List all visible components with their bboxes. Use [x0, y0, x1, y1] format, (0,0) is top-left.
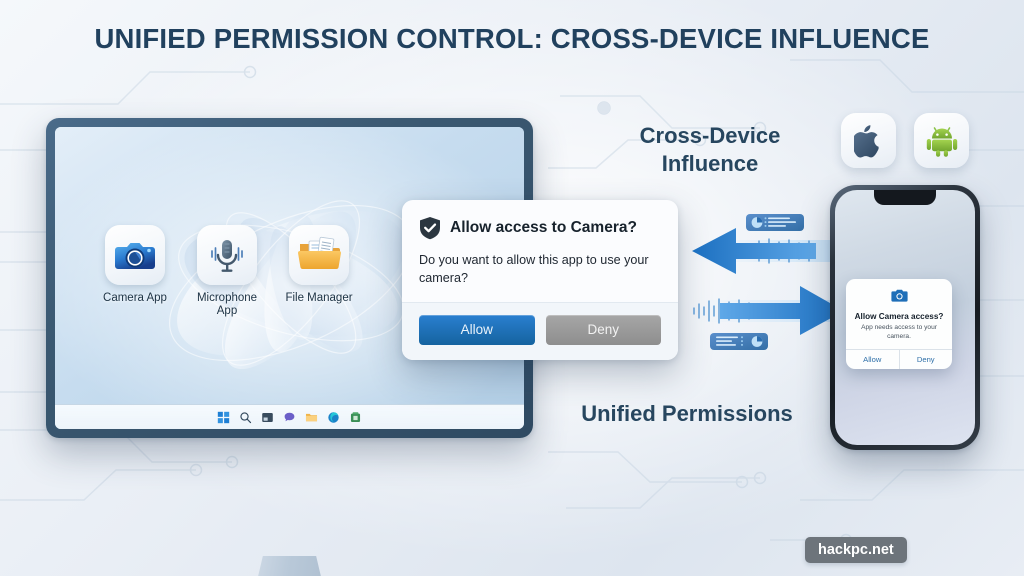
windows-start-icon[interactable]	[217, 411, 230, 424]
shield-check-icon	[419, 216, 441, 240]
phone-permission-dialog[interactable]: Allow Camera access? App needs access to…	[846, 279, 952, 369]
edge-browser-icon[interactable]	[327, 411, 340, 424]
desktop-icon-label: Camera App	[101, 292, 169, 305]
dialog-footer: Allow Deny	[402, 302, 678, 360]
desktop-icon-camera-app[interactable]: Camera App	[101, 225, 169, 305]
os-badge-group	[841, 113, 969, 168]
monitor-stand	[253, 556, 327, 576]
camera-app-tile[interactable]	[105, 225, 165, 285]
camera-icon	[113, 233, 157, 277]
android-badge[interactable]	[914, 113, 969, 168]
label-unified-permissions: Unified Permissions	[562, 400, 812, 428]
phone-deny-button[interactable]: Deny	[899, 350, 953, 369]
desktop-icon-microphone-app[interactable]: Microphone App	[193, 225, 261, 318]
apple-badge[interactable]	[841, 113, 896, 168]
dialog-header: Allow access to Camera?	[419, 216, 661, 240]
android-logo-icon	[926, 125, 958, 157]
store-icon[interactable]	[349, 411, 362, 424]
arrow-right-icon	[720, 286, 844, 335]
phone-dialog-title: Allow Camera access?	[854, 312, 944, 321]
phone-dialog-footer: Allow Deny	[846, 349, 952, 369]
desktop-icon-group: Camera App	[101, 225, 353, 318]
deny-button[interactable]: Deny	[546, 315, 662, 345]
dialog-title: Allow access to Camera?	[450, 219, 637, 237]
folder-files-icon	[297, 233, 341, 277]
desktop-icon-file-manager[interactable]: File Manager	[285, 225, 353, 305]
infographic-stage: UNIFIED PERMISSION CONTROL: CROSS-DEVICE…	[0, 0, 1024, 576]
microphone-app-tile[interactable]	[197, 225, 257, 285]
file-manager-tile[interactable]	[289, 225, 349, 285]
phone-dialog-message: App needs access to your camera.	[854, 324, 944, 341]
chat-icon[interactable]	[283, 411, 296, 424]
desktop-icon-label: Microphone App	[193, 292, 261, 318]
permission-dialog[interactable]: Allow access to Camera? Do you want to a…	[402, 200, 678, 360]
page-title: UNIFIED PERMISSION CONTROL: CROSS-DEVICE…	[0, 23, 1024, 55]
phone-dialog-body: Allow Camera access? App needs access to…	[846, 279, 952, 349]
site-watermark: hackpc.net	[805, 537, 907, 563]
arrow-left-icon	[692, 228, 816, 274]
desktop-icon-label: File Manager	[285, 292, 353, 305]
label-cross-device-influence: Cross-Device Influence	[604, 122, 816, 177]
phone-screen: Allow Camera access? App needs access to…	[835, 190, 975, 445]
smartphone-device: Allow Camera access? App needs access to…	[830, 185, 980, 450]
phone-notch	[874, 190, 936, 205]
windows-taskbar[interactable]	[55, 404, 524, 429]
cross-device-arrows	[688, 196, 848, 366]
search-icon[interactable]	[239, 411, 252, 424]
dialog-message: Do you want to allow this app to use you…	[419, 252, 661, 288]
allow-button[interactable]: Allow	[419, 315, 535, 345]
phone-allow-button[interactable]: Allow	[846, 350, 899, 369]
dialog-body: Allow access to Camera? Do you want to a…	[402, 200, 678, 302]
file-explorer-icon[interactable]	[305, 411, 318, 424]
microphone-icon	[205, 233, 249, 277]
task-view-icon[interactable]	[261, 411, 274, 424]
camera-icon	[891, 288, 908, 303]
apple-logo-icon	[854, 124, 884, 158]
